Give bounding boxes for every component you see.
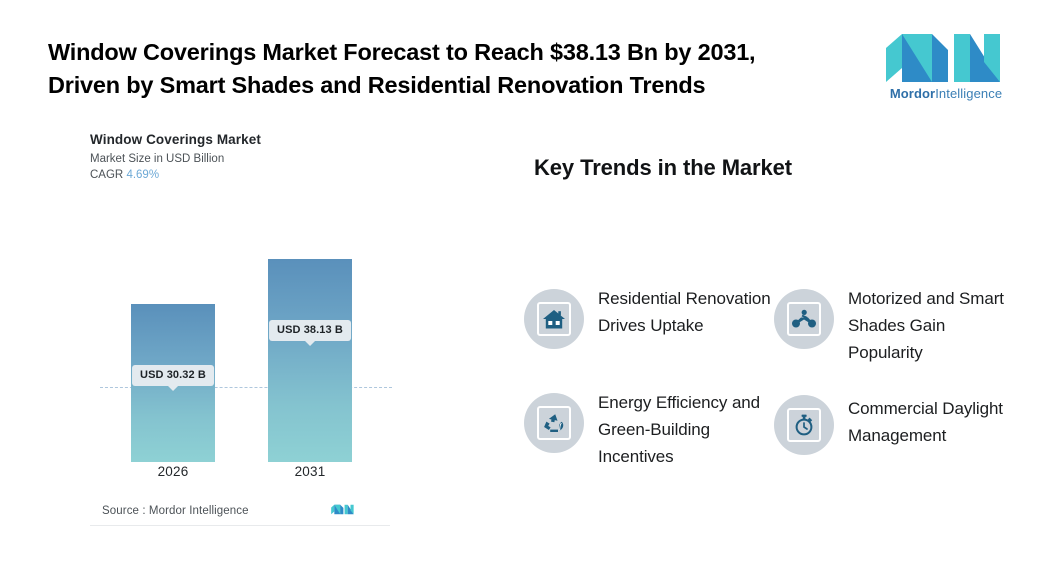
x-tick-2026: 2026: [158, 464, 189, 479]
brand-name-light: Intelligence: [935, 86, 1002, 101]
trend-label: Motorized and Smart Shades Gain Populari…: [848, 285, 1024, 366]
trend-label: Residential Renovation Drives Uptake: [598, 285, 774, 339]
source-text: Source : Mordor Intelligence: [102, 505, 249, 517]
chart-cagr: CAGR 4.69%: [90, 169, 390, 181]
motorcycle-icon: [774, 289, 834, 349]
brand-logo: MordorIntelligence: [880, 30, 1012, 108]
mordor-logo-small-icon: [330, 501, 356, 518]
headline-line-2: Driven by Smart Shades and Residential R…: [48, 69, 838, 102]
cagr-label: CAGR: [90, 169, 123, 181]
brand-wordmark: MordorIntelligence: [880, 86, 1012, 101]
trend-item-residential-renovation: Residential Renovation Drives Uptake: [524, 285, 774, 349]
chart-title: Window Coverings Market: [90, 132, 390, 147]
bar-2031: [268, 259, 352, 462]
headline-line-1: Window Coverings Market Forecast to Reac…: [48, 39, 755, 65]
stopwatch-icon: [774, 395, 834, 455]
chart-source: Source : Mordor Intelligence: [102, 500, 390, 522]
recycle-leaf-icon: [524, 393, 584, 453]
mordor-logo-mark: [880, 30, 1012, 86]
bar-value-label-2031: USD 38.13 B: [269, 320, 351, 341]
key-trends-heading: Key Trends in the Market: [534, 155, 792, 181]
page-title: Window Coverings Market Forecast to Reac…: [48, 36, 838, 102]
trend-label: Commercial Daylight Management: [848, 395, 1024, 449]
trend-item-energy-efficiency: Energy Efficiency and Green-Building Inc…: [524, 389, 774, 470]
house-icon: [524, 289, 584, 349]
x-tick-2031: 2031: [295, 464, 326, 479]
bar-value-label-2026: USD 30.32 B: [132, 365, 214, 386]
trend-item-motorized-smart-shades: Motorized and Smart Shades Gain Populari…: [774, 285, 1024, 366]
trend-label: Energy Efficiency and Green-Building Inc…: [598, 389, 774, 470]
cagr-value: 4.69%: [126, 169, 159, 181]
trend-item-commercial-daylight: Commercial Daylight Management: [774, 395, 1024, 455]
page-header: Window Coverings Market Forecast to Reac…: [0, 0, 1038, 120]
x-axis-labels: 2026 2031: [90, 464, 390, 488]
brand-name-bold: Mordor: [890, 86, 935, 101]
infographic-page: Window Coverings Market Forecast to Reac…: [0, 0, 1038, 577]
key-trends-grid: Residential Renovation Drives Uptake Mot…: [524, 285, 1024, 515]
chart-card: Window Coverings Market Market Size in U…: [90, 132, 390, 526]
bar-chart-plot: USD 30.32 B USD 38.13 B: [90, 222, 390, 462]
chart-subtitle: Market Size in USD Billion: [90, 153, 390, 165]
